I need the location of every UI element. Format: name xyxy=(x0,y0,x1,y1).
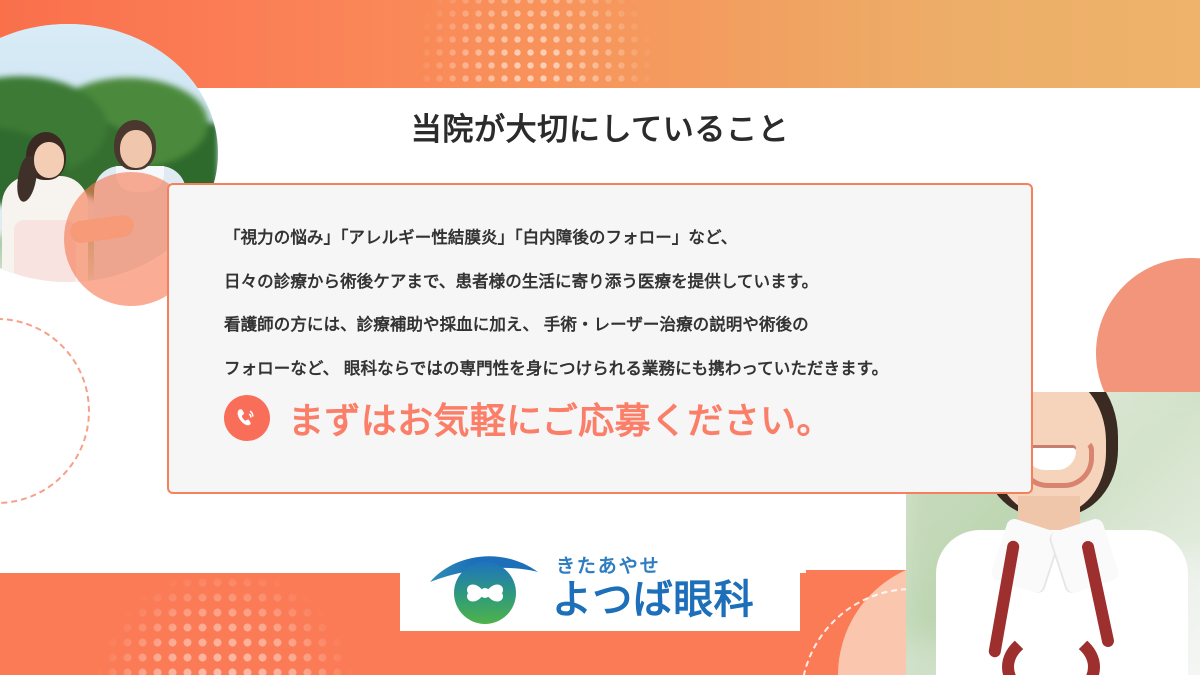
clinic-logo: きたあやせ よつば眼科 xyxy=(400,546,800,631)
logo-name: よつば眼科 xyxy=(552,580,754,620)
eye-clover-logo-mark-icon xyxy=(428,548,546,630)
body-line-3: 看護師の方には、診療補助や採血に加え、 手術・レーザー治療の説明や術後の xyxy=(224,317,1014,334)
body-text-block: 「視力の悩み」「アレルギー性結膜炎」「白内障後のフォロー」など、 日々の診療から… xyxy=(224,230,1014,404)
content-panel: 「視力の悩み」「アレルギー性結膜炎」「白内障後のフォロー」など、 日々の診療から… xyxy=(167,183,1033,494)
body-line-2: 日々の診療から術後ケアまで、患者様の生活に寄り添う医療を提供しています。 xyxy=(224,274,1014,291)
cta-row[interactable]: まずはお気軽にご応募ください。 xyxy=(224,392,833,444)
page-title: 当院が大切にしていること xyxy=(0,104,1200,149)
cta-text: まずはお気軽にご応募ください。 xyxy=(288,392,833,444)
phone-call-icon[interactable] xyxy=(224,395,270,441)
slide-canvas: 当院が大切にしていること 「視力の悩み」「アレルギー性結膜炎」「白内障後のフォロ… xyxy=(0,0,1200,675)
body-line-1: 「視力の悩み」「アレルギー性結膜炎」「白内障後のフォロー」など、 xyxy=(224,230,1014,247)
dashed-circle-decoration xyxy=(0,318,90,504)
halftone-dots-icon xyxy=(420,0,650,107)
body-line-4: フォローなど、 眼科ならではの専門性を身につけられる業務にも携わっていただきます… xyxy=(224,361,1014,378)
logo-kana: きたあやせ xyxy=(556,557,754,576)
logo-text-block: きたあやせ よつば眼科 xyxy=(552,557,754,620)
